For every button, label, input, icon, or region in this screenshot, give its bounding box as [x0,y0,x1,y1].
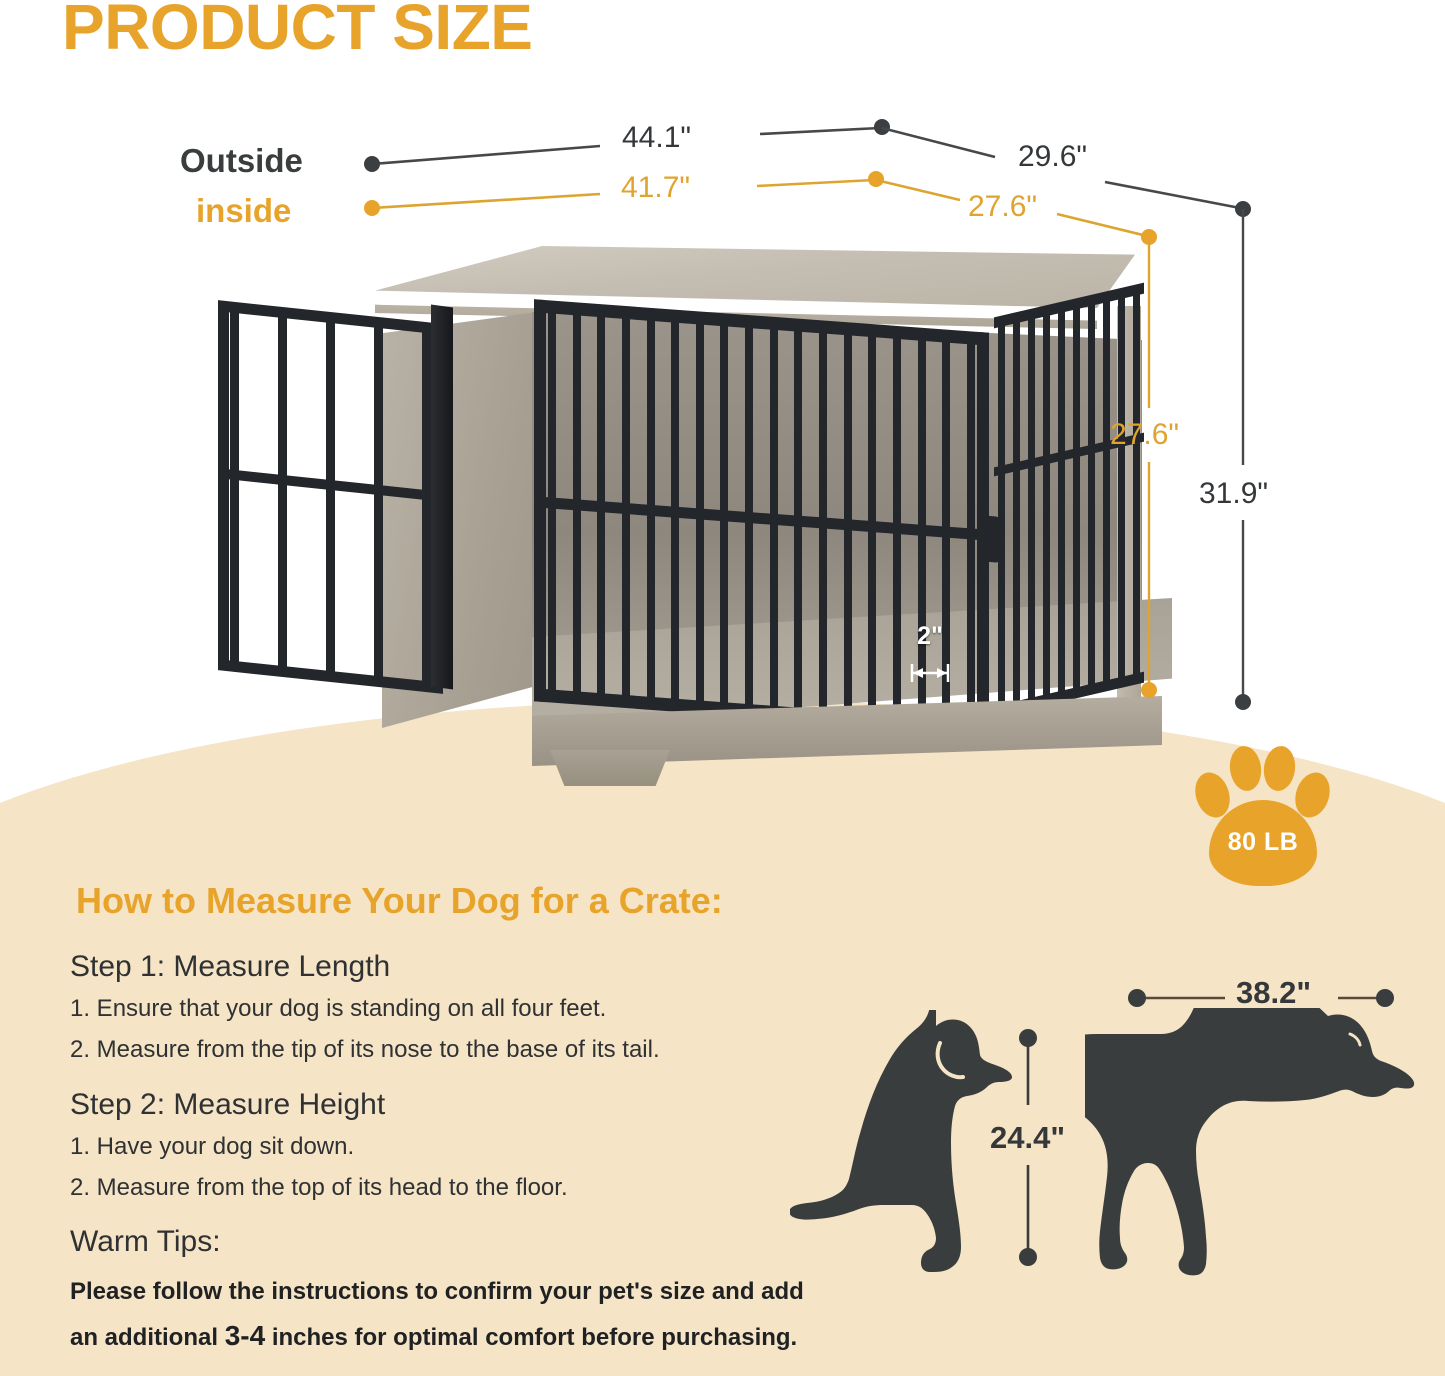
step2-title: Step 2: Measure Height [70,1088,385,1122]
weight-capacity-badge: 80 LB [1186,742,1336,882]
warm-tips-title: Warm Tips: [70,1225,221,1259]
crate-open-left-door [218,300,443,694]
legend-inside-label: inside [196,192,291,230]
side-panel-bars [998,293,1140,708]
standing-dog-silhouette [1085,1008,1415,1286]
weight-capacity-value: 80 LB [1209,828,1317,857]
warm-tips-emphasis: 3-4 [225,1320,265,1351]
door-latch [982,515,999,562]
crate-body [382,298,1127,743]
warm-tips-line-2: an additional 3-4 inches for optimal com… [70,1320,797,1352]
infographic-canvas: PRODUCT SIZE Outside inside [0,0,1445,1376]
step2-line-2: 2. Measure from the top of its head to t… [70,1174,568,1202]
guide-heading: How to Measure Your Dog for a Crate: [76,880,723,922]
warm-tips-line2-after: inches for optimal comfort before purcha… [265,1324,797,1351]
open-door-bars [230,311,431,682]
warm-tips-line-1: Please follow the instructions to confir… [70,1278,804,1306]
bar-spacing-value: 2" [900,624,960,649]
legend-outside-label: Outside [180,142,303,180]
front-door-left-stile [534,299,546,702]
dim-dog-stand-length: 38.2" [1236,975,1311,1011]
step1-title: Step 1: Measure Length [70,950,390,984]
step2-line-1: 1. Have your dog sit down. [70,1133,354,1161]
leader-outside-height [1235,209,1251,710]
dim-inside-depth: 27.6" [968,190,1037,224]
open-door-hinge-edge [431,304,453,689]
crate-right-barred-panel [994,283,1144,718]
dim-outside-width: 44.1" [622,121,691,155]
dog-crate-product-image: 2" [200,236,1150,781]
page-title: PRODUCT SIZE [62,0,532,62]
step1-line-1: 1. Ensure that your dog is standing on a… [70,995,606,1023]
step1-line-2: 2. Measure from the tip of its nose to t… [70,1036,660,1064]
warm-tips-line2-before: an additional [70,1324,225,1351]
dim-inside-width: 41.7" [621,171,690,205]
bar-spacing-callout: 2" [900,624,960,690]
dim-inside-height: 27.6" [1110,418,1179,452]
paw-toe-icon [1227,744,1263,792]
paw-toe-icon [1261,744,1297,792]
dim-outside-depth: 29.6" [1018,140,1087,174]
crate-base-foot [550,750,670,786]
dim-outside-height: 31.9" [1199,477,1268,511]
bar-spacing-arrow-icon [900,658,960,688]
sitting-dog-silhouette [790,1010,1020,1285]
